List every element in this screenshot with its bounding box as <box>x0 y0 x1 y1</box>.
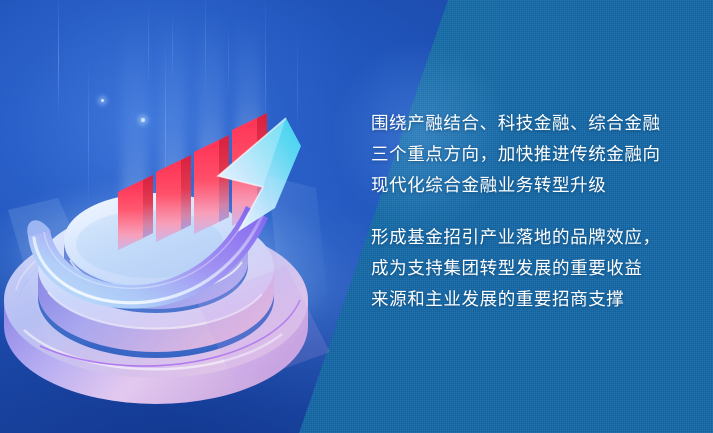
paragraph-1-line-3: 现代化综合金融业务转型升级 <box>371 175 606 195</box>
light-streak <box>228 20 229 100</box>
promo-banner: 围绕产融结合、科技金融、综合金融 三个重点方向，加快推进传统金融向 现代化综合金… <box>0 0 713 433</box>
bar-1 <box>118 175 153 250</box>
growth-chart-illustration <box>0 0 360 433</box>
paragraph-1: 围绕产融结合、科技金融、综合金融 三个重点方向，加快推进传统金融向 现代化综合金… <box>371 108 693 201</box>
background-glow-top-left <box>0 0 360 330</box>
growth-arrow <box>27 118 301 309</box>
light-streak <box>88 60 89 210</box>
light-streak <box>297 30 298 140</box>
light-streak <box>148 0 149 90</box>
bar-4 <box>232 113 267 226</box>
paragraph-2-line-3: 来源和主业发展的重要招商支撑 <box>371 289 624 309</box>
light-streak <box>205 0 206 100</box>
bar-2 <box>156 155 191 242</box>
paragraph-2-line-2: 成为支持集团转型发展的重要收益 <box>371 258 643 278</box>
light-streak <box>58 0 59 120</box>
sparkle-dot <box>101 99 104 102</box>
paragraph-2: 形成基金招引产业落地的品牌效应， 成为支持集团转型发展的重要收益 来源和主业发展… <box>371 222 693 315</box>
paragraph-2-line-1: 形成基金招引产业落地的品牌效应， <box>371 227 661 247</box>
light-streak <box>265 0 266 150</box>
light-streak <box>172 10 173 80</box>
paragraph-1-line-1: 围绕产融结合、科技金融、综合金融 <box>371 113 661 133</box>
bar-3 <box>194 135 229 234</box>
copy-block: 围绕产融结合、科技金融、综合金融 三个重点方向，加快推进传统金融向 现代化综合金… <box>371 108 693 315</box>
paragraph-1-line-2: 三个重点方向，加快推进传统金融向 <box>371 144 661 164</box>
sparkle-dot <box>141 118 145 122</box>
light-streak <box>165 40 166 210</box>
